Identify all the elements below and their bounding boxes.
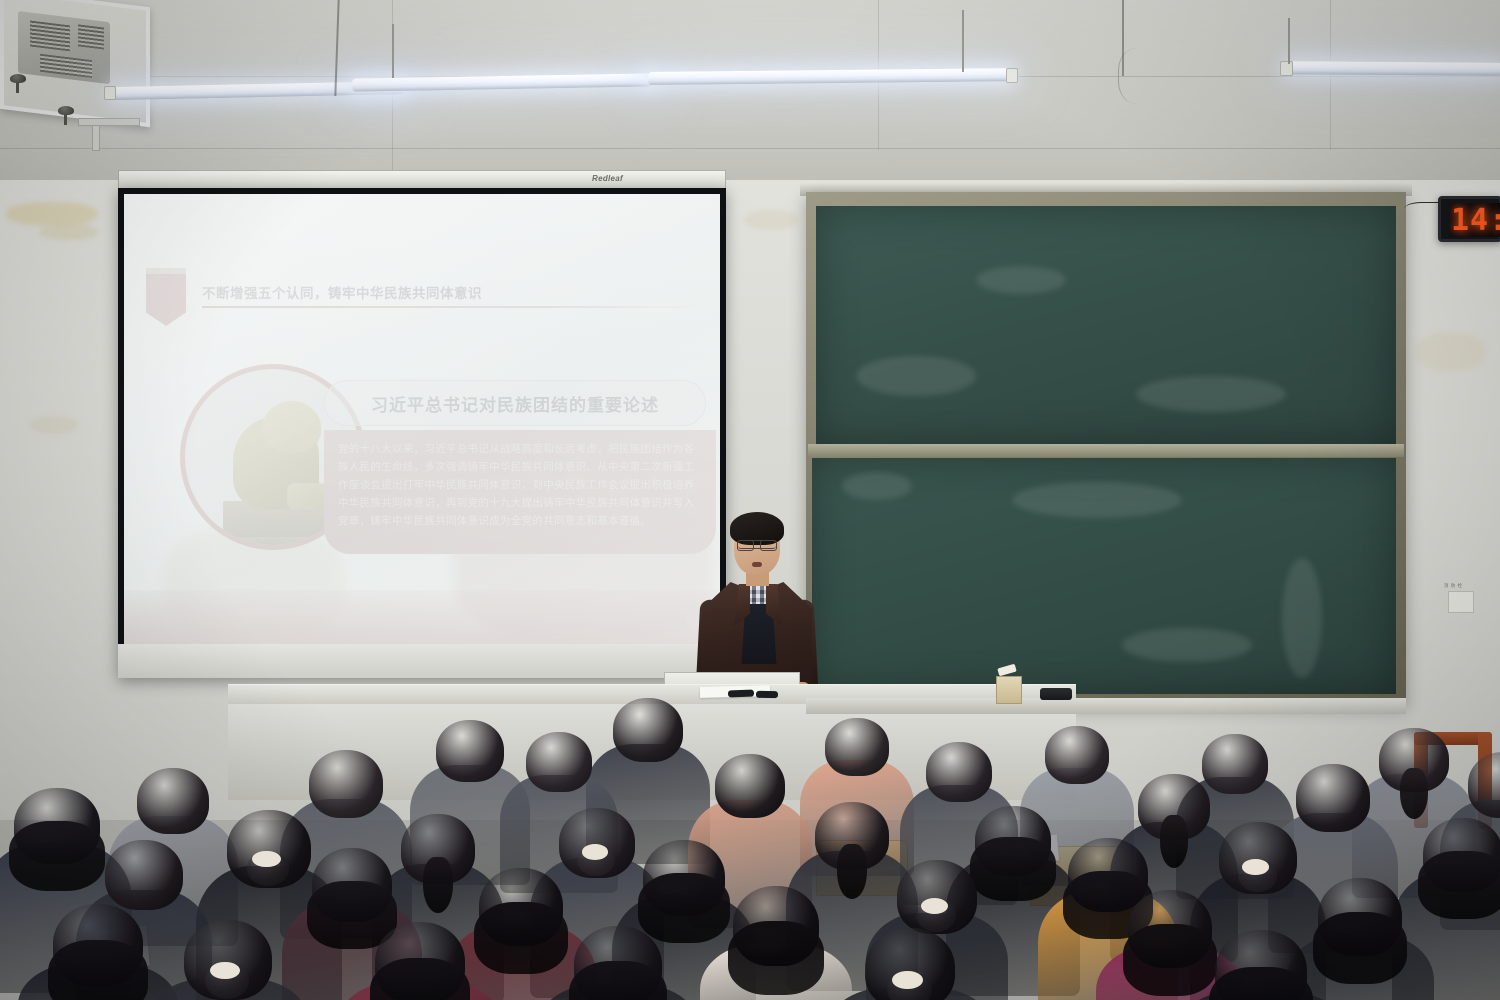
slide-bottom-band: [124, 590, 720, 644]
audience-member-head: [1045, 726, 1109, 784]
projector-arm-vertical: [92, 125, 100, 151]
hair-scrunchie: [1242, 859, 1269, 875]
sprinkler-head-icon: [10, 74, 26, 83]
blackboard-lower-panel: [812, 458, 1396, 694]
audience-member-head: [926, 742, 992, 802]
eyeglasses-icon: [738, 540, 776, 549]
slide-header-title: 不断增强五个认同，铸牢中华民族共同体意识: [202, 282, 662, 302]
projection-screen-surface: 不断增强五个认同，铸牢中华民族共同体意识 习近平总书记对民族团结的重要论述 党的…: [124, 194, 720, 644]
audience-member-head: [715, 754, 785, 818]
long-hair: [728, 921, 824, 995]
fire-hydrant-sign: [1448, 591, 1474, 613]
screen-bottom-bar: [118, 644, 726, 678]
led-wall-clock: 14:: [1438, 196, 1500, 242]
audience-member: [340, 922, 500, 1000]
ponytail: [1400, 768, 1428, 819]
hair-scrunchie: [582, 844, 608, 859]
presenter-mouth: [752, 562, 762, 567]
projector-cage: [0, 0, 150, 127]
audience-member-head: [309, 750, 383, 818]
long-hair: [48, 940, 149, 1000]
audience-member-head: [526, 732, 592, 792]
projector-arm: [78, 118, 140, 126]
slide-header-rule: [202, 306, 702, 308]
slide-section-heading: 习近平总书记对民族团结的重要论述: [324, 380, 706, 426]
projector-mount: [6, 2, 156, 122]
fire-hydrant-sign-label: 消 防 栓: [1444, 583, 1463, 589]
audience-member-head: [613, 698, 683, 762]
screen-brand-label: Redleaf: [592, 174, 623, 183]
blackboard-upper-panel: [816, 206, 1396, 444]
audience: [0, 690, 1500, 1000]
presentation-slide: 不断增强五个认同，铸牢中华民族共同体意识 习近平总书记对民族团结的重要论述 党的…: [124, 194, 720, 644]
lecture-hall-photo: 消 防 栓 Redleaf 不断增强五个认同，铸牢中华民族共同体意识: [0, 0, 1500, 1000]
hair-scrunchie: [892, 971, 923, 989]
guardian-lion-icon: [219, 397, 339, 547]
clock-face: 14:: [1449, 203, 1500, 237]
slide-body-text: 党的十八大以来，习近平总书记从战略高度和长远考虑，把民族团结作为各族人民的生命线…: [338, 440, 702, 530]
clock-digits: 14:: [1449, 203, 1500, 237]
audience-member-head: [825, 718, 889, 776]
audience-member: [540, 926, 696, 1000]
audience-member: [150, 920, 306, 1000]
blackboard-divider-rail: [808, 444, 1404, 457]
audience-member-head: [436, 720, 504, 782]
audience-member-head: [105, 840, 183, 910]
sprinkler-head-icon: [58, 106, 74, 115]
hair-scrunchie: [252, 851, 281, 868]
slide-shield-badge-icon: [146, 274, 186, 326]
audience-member: [1180, 930, 1342, 1000]
fluorescent-tube-light: [1288, 61, 1500, 75]
audience-member: [830, 928, 990, 1000]
clock-power-wire: [1404, 202, 1440, 216]
